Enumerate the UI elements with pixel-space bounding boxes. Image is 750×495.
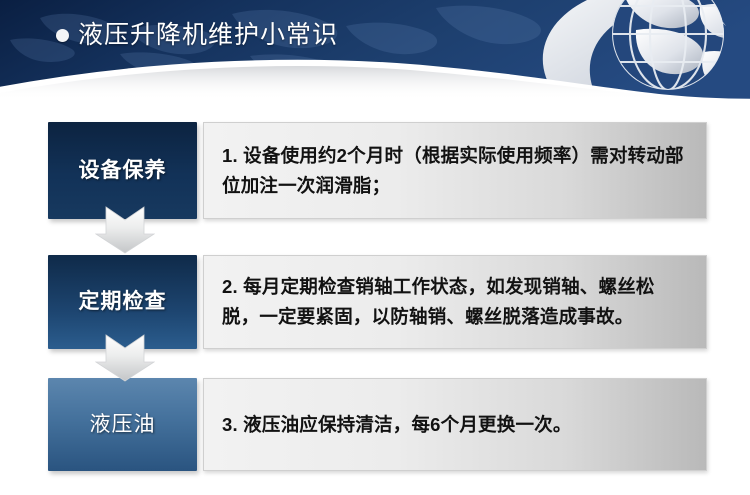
content-box-3[interactable]: 3. 液压油应保持清洁，每6个月更换一次。 (203, 378, 707, 471)
content-text-1: 1. 设备使用约2个月时（根据实际使用频率）需对转动部位加注一次润滑脂； (222, 141, 690, 201)
down-arrow-notched-icon-1 (95, 205, 155, 255)
header-banner: 液压升降机维护小常识 (0, 0, 750, 100)
down-arrow-notched-icon-2 (95, 333, 155, 383)
category-label-text: 设备保养 (79, 158, 167, 184)
slide-page: 液压升降机维护小常识 设备保养 1. 设备使用约2个月时（根据实际使用频率）需对… (0, 0, 750, 495)
category-label-text: 液压油 (90, 412, 156, 438)
category-label-text: 定期检查 (79, 289, 167, 315)
content-text-2: 2. 每月定期检查销轴工作状态，如发现销轴、螺丝松脱，一定要紧固，以防轴销、螺丝… (222, 272, 690, 332)
content-box-2[interactable]: 2. 每月定期检查销轴工作状态，如发现销轴、螺丝松脱，一定要紧固，以防轴销、螺丝… (203, 255, 707, 349)
page-title: 液压升降机维护小常识 (56, 20, 338, 50)
header-background-graphic (0, 0, 750, 100)
category-label-hydraulic-oil[interactable]: 液压油 (48, 378, 197, 471)
content-text-3: 3. 液压油应保持清洁，每6个月更换一次。 (222, 410, 572, 440)
page-title-text: 液压升降机维护小常识 (78, 20, 338, 50)
content-box-1[interactable]: 1. 设备使用约2个月时（根据实际使用频率）需对转动部位加注一次润滑脂； (203, 122, 707, 219)
info-row-3: 液压油 3. 液压油应保持清洁，每6个月更换一次。 (0, 378, 750, 471)
bullet-circle-icon (56, 29, 69, 42)
